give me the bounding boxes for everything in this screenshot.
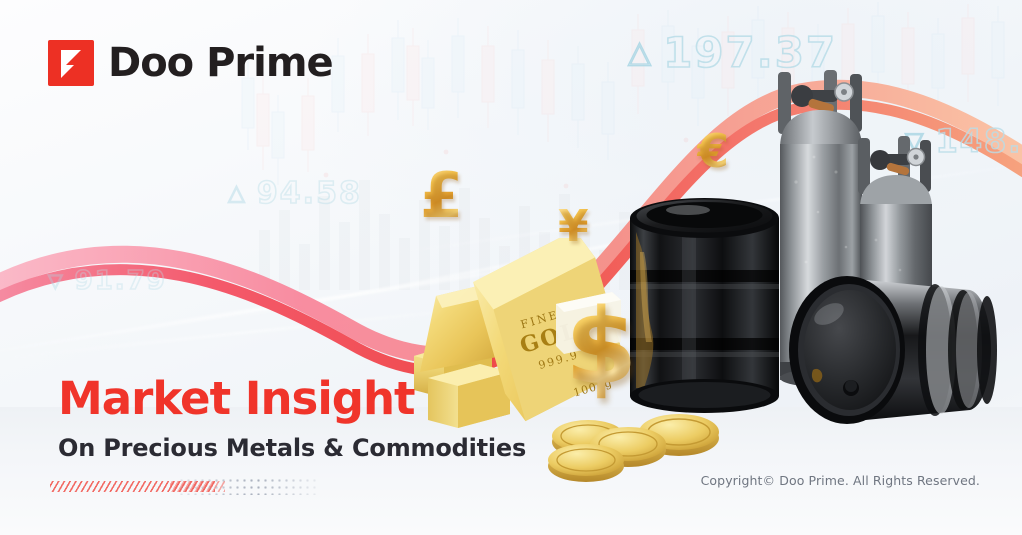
doo-prime-logo[interactable]: Doo Prime: [48, 40, 333, 86]
black-oil-drum: [622, 192, 787, 425]
page-title: Market Insight: [58, 375, 526, 422]
copyright-text: Copyright© Doo Prime. All Rights Reserve…: [701, 473, 980, 488]
pound-symbol: £: [420, 165, 463, 227]
dot-grid: [178, 477, 320, 495]
logo-wordmark: Doo Prime: [108, 40, 333, 86]
doo-prime-logo-mark: [48, 40, 94, 86]
gold-coins: [546, 398, 722, 489]
tilted-oil-drum: [785, 268, 1020, 438]
headline-block: Market Insight On Precious Metals & Comm…: [58, 375, 526, 462]
market-insight-banner: △ 197.37 ▽ 148.48 △ 94.58 ▽ 91.79: [0, 0, 1022, 535]
page-subtitle: On Precious Metals & Commodities: [58, 434, 526, 462]
dollar-symbol: $: [565, 295, 637, 399]
decorative-bar: [50, 476, 320, 496]
yen-symbol: ¥: [558, 205, 589, 249]
euro-symbol: €: [697, 128, 729, 174]
